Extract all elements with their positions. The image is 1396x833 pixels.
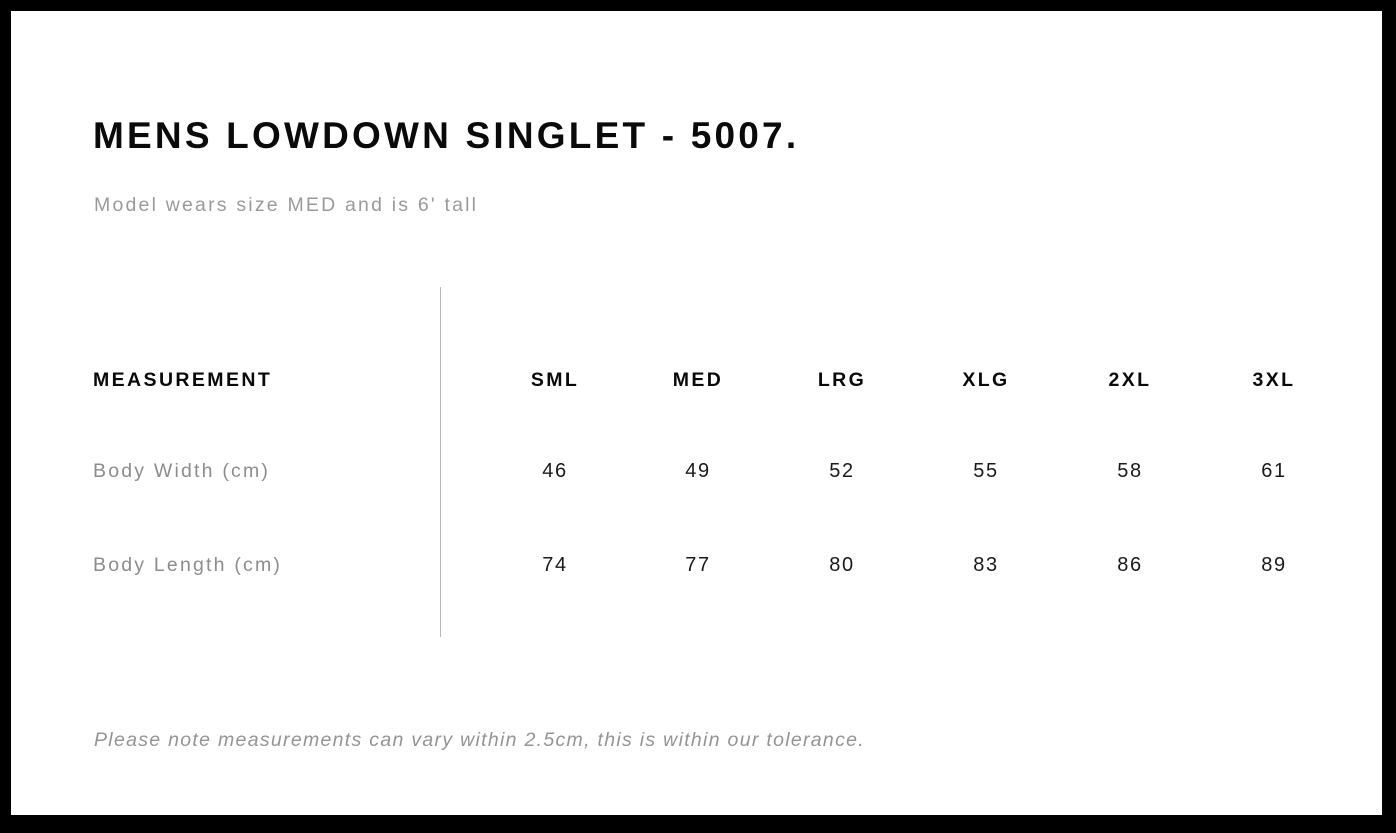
cell-body-length-2xl: 86 — [1070, 545, 1190, 585]
cell-body-length-sml: 74 — [495, 545, 615, 585]
cell-body-length-3xl: 89 — [1214, 545, 1334, 585]
column-header-3xl: 3XL — [1214, 360, 1334, 400]
cell-body-length-xlg: 83 — [926, 545, 1046, 585]
cell-body-width-med: 49 — [638, 451, 758, 491]
column-header-med: MED — [638, 360, 758, 400]
column-header-sml: SML — [495, 360, 615, 400]
column-header-2xl: 2XL — [1070, 360, 1190, 400]
table-header-row: MEASUREMENT SML MED LRG XLG 2XL 3XL — [11, 360, 1382, 400]
size-guide-card: MENS LOWDOWN SINGLET - 5007. Model wears… — [11, 11, 1382, 815]
row-label-body-length: Body Length (cm) — [93, 545, 282, 585]
column-header-lrg: LRG — [782, 360, 902, 400]
table-row: Body Width (cm) 46 49 52 55 58 61 — [11, 451, 1382, 491]
size-chart-table: MEASUREMENT SML MED LRG XLG 2XL 3XL Body… — [11, 11, 1382, 815]
cell-body-width-3xl: 61 — [1214, 451, 1334, 491]
column-header-xlg: XLG — [926, 360, 1046, 400]
cell-body-length-med: 77 — [638, 545, 758, 585]
cell-body-width-2xl: 58 — [1070, 451, 1190, 491]
table-row: Body Length (cm) 74 77 80 83 86 89 — [11, 545, 1382, 585]
cell-body-width-xlg: 55 — [926, 451, 1046, 491]
cell-body-length-lrg: 80 — [782, 545, 902, 585]
column-header-measurement: MEASUREMENT — [93, 360, 272, 400]
outer-black-frame: MENS LOWDOWN SINGLET - 5007. Model wears… — [0, 0, 1396, 833]
row-label-body-width: Body Width (cm) — [93, 451, 270, 491]
tolerance-footnote: Please note measurements can vary within… — [94, 729, 865, 752]
cell-body-width-sml: 46 — [495, 451, 615, 491]
cell-body-width-lrg: 52 — [782, 451, 902, 491]
